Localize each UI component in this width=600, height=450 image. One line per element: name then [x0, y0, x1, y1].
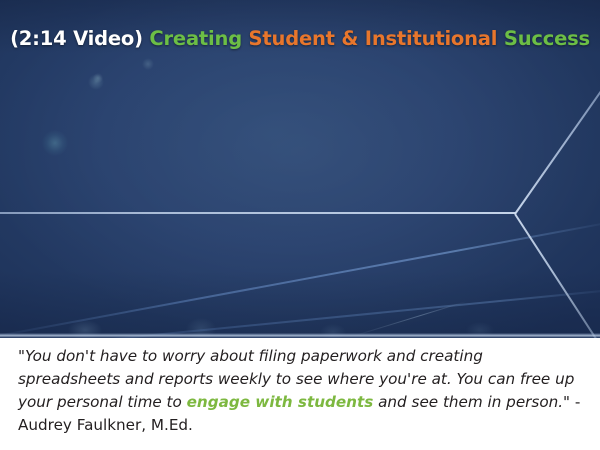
slide-title: (2:14 Video) Creating Student & Institut…	[0, 27, 600, 50]
title-word-creating: Creating	[149, 27, 248, 50]
quote-text-part-2: and see them in person."	[373, 393, 570, 411]
hero-bottom-edge	[0, 333, 600, 338]
title-words-student-institutional: Student & Institutional	[249, 27, 504, 50]
video-still-background[interactable]	[0, 0, 600, 338]
title-word-success: Success	[504, 27, 590, 50]
quote-caption: "You don't have to worry about filing pa…	[18, 345, 586, 437]
hero-vignette-overlay	[0, 0, 600, 338]
quote-highlight-engage-with-students: engage with students	[187, 393, 374, 411]
slide-root: (2:14 Video) Creating Student & Institut…	[0, 0, 600, 450]
title-duration: (2:14 Video)	[10, 27, 149, 50]
